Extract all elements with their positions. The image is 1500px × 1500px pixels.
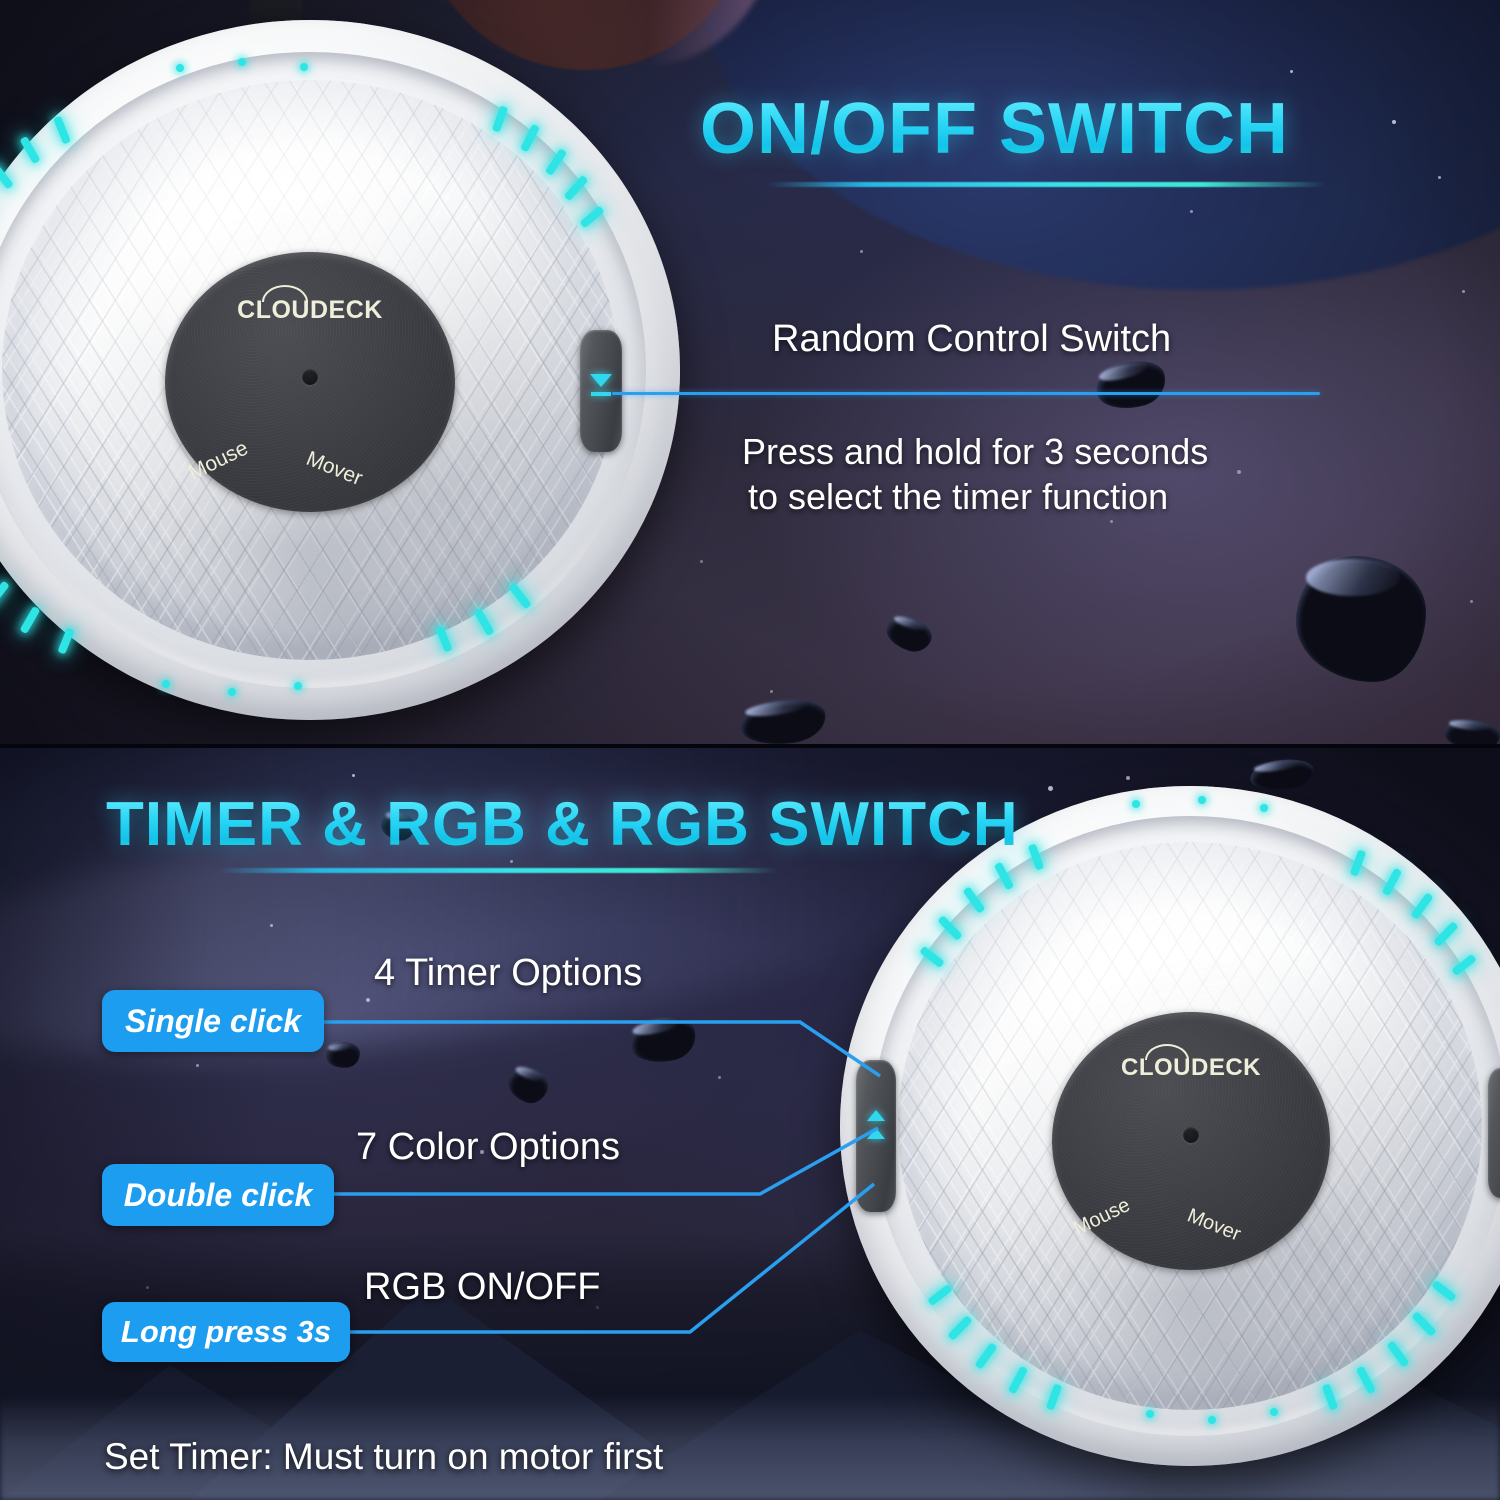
star [1126,776,1130,780]
star [1237,470,1241,474]
led-dot [1208,1416,1216,1424]
callout-connector-line-top [612,392,1320,395]
star [352,774,355,777]
device-center-hub: CLOUDECK Mouse Mover [165,252,455,512]
led-dash [57,627,74,654]
led-dash [0,581,10,608]
star [270,924,273,927]
panel-divider [0,744,1500,748]
sensor-pinhole [1183,1127,1199,1143]
led-dot [228,688,236,696]
timer-rgb-switch-button[interactable] [856,1060,896,1212]
led-dash [20,606,41,634]
badge-long-press[interactable]: Long press 3s [102,1302,350,1362]
triangle-down-icon [590,374,612,387]
callout-label-color-options: 7 Color Options [356,1126,620,1169]
led-dot [162,680,170,688]
star [366,998,370,1002]
footnote-set-timer: Set Timer: Must turn on motor first [104,1436,663,1478]
star [1392,120,1396,124]
infographic-root: CLOUDECK Mouse Mover [0,0,1500,1500]
led-dot [1270,1408,1278,1416]
random-control-switch-button[interactable] [580,330,622,452]
led-dot [1146,1410,1154,1418]
led-dot [1260,804,1268,812]
sensor-pinhole [302,369,318,385]
callout-random-control-switch: Random Control Switch [772,318,1171,361]
triangle-up-icon [867,1110,885,1121]
led-dot [294,682,302,690]
star [860,250,863,253]
led-dot [1132,800,1140,808]
callout-sub-line1: Press and hold for 3 seconds [742,431,1208,473]
title-underline-bottom [218,868,778,873]
star [1470,600,1473,603]
panel-on-off-switch: CLOUDECK Mouse Mover [0,0,1500,746]
star [1190,210,1193,213]
badge-double-click[interactable]: Double click [102,1164,334,1226]
brand-logo-text: CLOUDECK [1121,1054,1261,1081]
star [1462,290,1465,293]
led-dot [238,58,246,66]
star [700,560,703,563]
star [1110,520,1113,523]
star [196,1064,199,1067]
led-dot [300,63,308,71]
device-center-hub: CLOUDECK Mouse Mover [1052,1012,1330,1270]
badge-single-click[interactable]: Single click [102,990,324,1052]
star [1290,70,1293,73]
star [510,860,513,863]
brand-logo: CLOUDECK [1052,1054,1330,1082]
callout-label-rgb-onoff: RGB ON/OFF [364,1266,600,1309]
panel-title-top: ON/OFF SWITCH [700,88,1289,170]
led-dot [176,64,184,72]
callout-label-timer-options: 4 Timer Options [374,952,642,995]
title-underline-top [766,182,1326,187]
panel-title-bottom: TIMER & RGB & RGB SWITCH [106,789,1019,860]
device-secondary-button[interactable] [1488,1068,1500,1198]
mouse-mover-device-top[interactable]: CLOUDECK Mouse Mover [0,20,680,720]
led-dot [1198,796,1206,804]
callout-sub-line2: to select the timer function [748,476,1168,518]
triangle-down-bar-icon [591,392,611,396]
star [1438,176,1441,179]
star [770,690,773,693]
panel-timer-rgb-switch: CLOUDECK Mouse Mover [0,746,1500,1500]
mouse-mover-device-bottom[interactable]: CLOUDECK Mouse Mover [840,786,1500,1466]
brand-logo: CLOUDECK [165,296,455,325]
triangle-up-icon [867,1128,885,1139]
star [718,1076,721,1079]
brand-logo-text: CLOUDECK [237,296,383,324]
